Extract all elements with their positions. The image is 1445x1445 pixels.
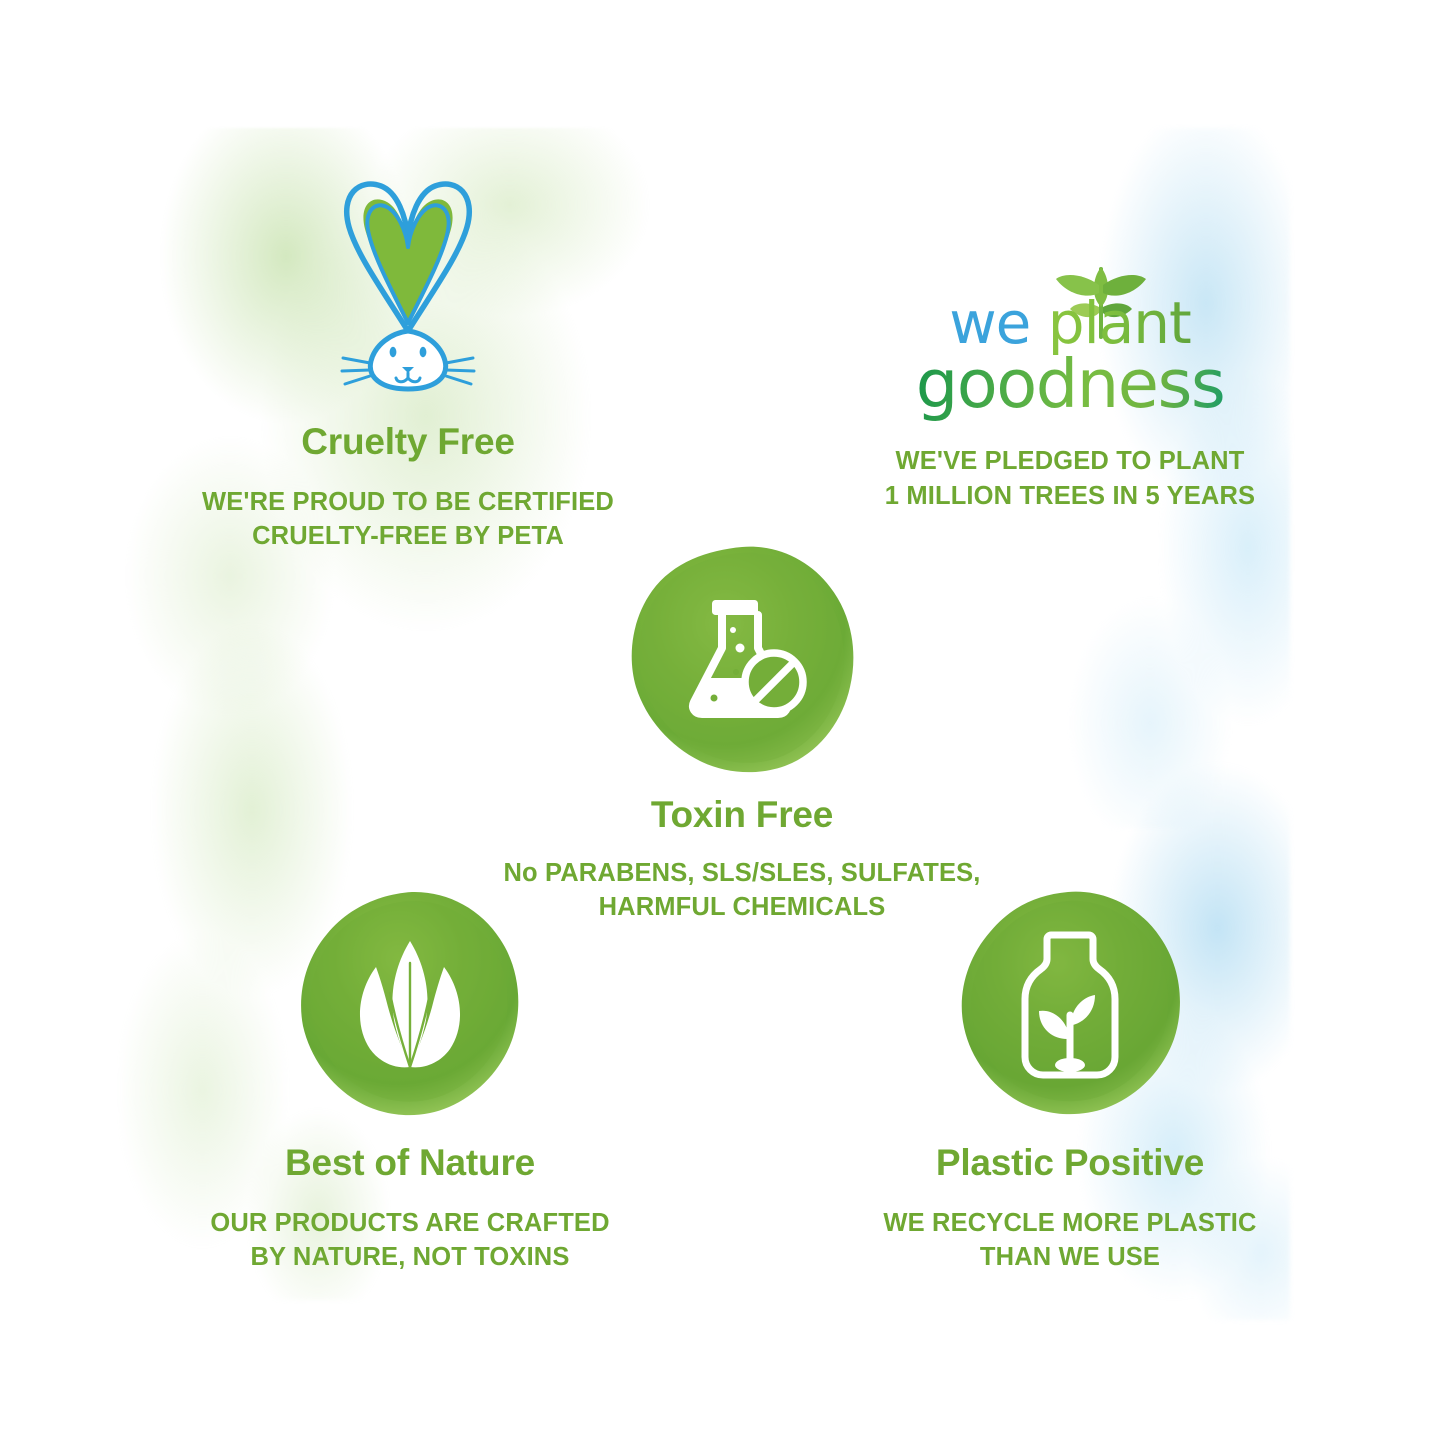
claim-title: Best of Nature (130, 1143, 690, 1184)
watercolor-disc (292, 887, 528, 1123)
sustainability-claims-panel: Cruelty Free WE'RE PROUD TO BE CERTIFIED… (0, 0, 1445, 1445)
claim-description: OUR PRODUCTS ARE CRAFTED BY NATURE, NOT … (130, 1206, 690, 1275)
claim-toxin-free: Toxin Free No PARABENS, SLS/SLES, SULFAT… (442, 535, 1042, 925)
bottle-with-sprout-icon (1011, 929, 1129, 1081)
three-leaves-icon (340, 937, 480, 1073)
watercolor-disc (952, 887, 1188, 1123)
logo-word-goodness: goodness (916, 345, 1225, 423)
claim-description: WE'VE PLEDGED TO PLANT 1 MILLION TREES I… (760, 444, 1380, 513)
claim-title: Toxin Free (442, 795, 1042, 836)
claim-title: Cruelty Free (128, 422, 688, 463)
toxin-free-icon-wrap (442, 535, 1042, 783)
flask-no-entry-icon (674, 594, 810, 724)
claim-description: WE RECYCLE MORE PLASTIC THAN WE USE (790, 1206, 1350, 1275)
claim-plastic-positive: Plastic Positive WE RECYCLE MORE PLASTIC… (790, 885, 1350, 1275)
plastic-positive-icon-wrap (790, 885, 1350, 1125)
best-of-nature-icon-wrap (130, 885, 690, 1125)
claim-best-of-nature: Best of Nature OUR PRODUCTS ARE CRAFTED … (130, 885, 690, 1275)
claim-cruelty-free: Cruelty Free WE'RE PROUD TO BE CERTIFIED… (128, 168, 688, 554)
claim-title: Plastic Positive (790, 1143, 1350, 1184)
we-plant-goodness-wordmark: we plant goodness (760, 297, 1380, 416)
peta-bunny-heart-ears-icon (313, 173, 503, 398)
watercolor-disc (624, 541, 860, 777)
claim-we-plant-goodness: we plant goodness WE'VE PLEDGED TO PLANT… (760, 255, 1380, 513)
cruelty-free-icon-wrap (128, 168, 688, 398)
we-plant-goodness-logo: we plant goodness (760, 255, 1380, 430)
